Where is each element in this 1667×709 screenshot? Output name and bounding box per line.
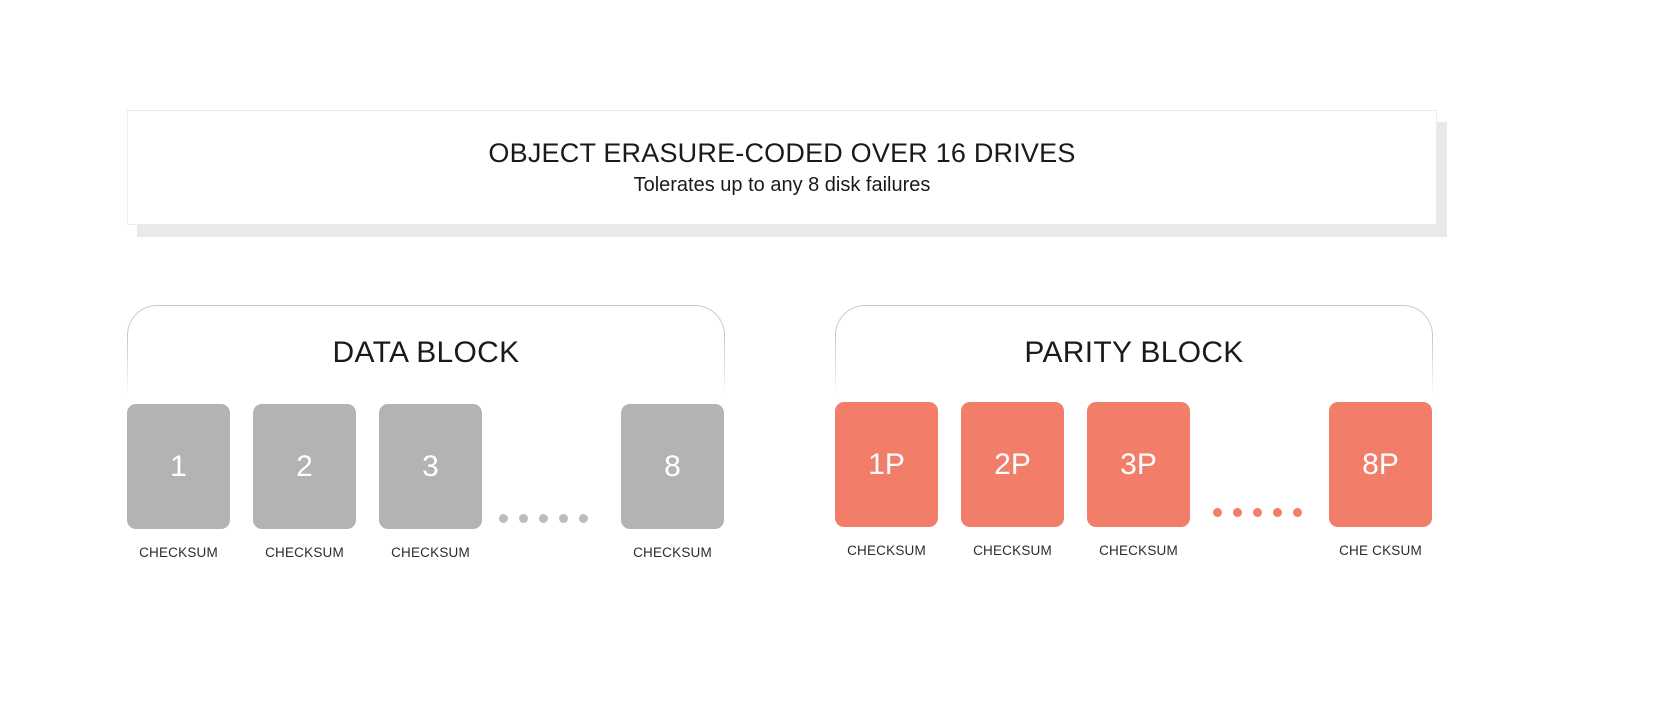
- parity-block-tile[interactable]: 8P: [1329, 402, 1432, 527]
- parity-block-tile[interactable]: 1P: [835, 402, 938, 527]
- checksum-label: CHECKSUM: [961, 543, 1064, 558]
- ellipsis-dot: [579, 514, 588, 523]
- banner-subtitle: Tolerates up to any 8 disk failures: [634, 172, 931, 198]
- data-block-title: DATA BLOCK: [127, 336, 725, 370]
- checksum-label: CHECKSUM: [835, 543, 938, 558]
- banner-title: OBJECT ERASURE-CODED OVER 16 DRIVES: [488, 137, 1075, 170]
- data-block-cell: 3CHECKSUM: [379, 404, 482, 560]
- checksum-label: CHE CKSUM: [1329, 543, 1432, 558]
- data-block-cell: 1CHECKSUM: [127, 404, 230, 560]
- parity-block-ellipsis-dots: [1213, 508, 1302, 517]
- data-block-tile[interactable]: 1: [127, 404, 230, 529]
- parity-block-tile[interactable]: 3P: [1087, 402, 1190, 527]
- parity-block-tile[interactable]: 2P: [961, 402, 1064, 527]
- checksum-label: CHECKSUM: [253, 545, 356, 560]
- ellipsis-dot: [1233, 508, 1242, 517]
- ellipsis-dot: [1253, 508, 1262, 517]
- ellipsis-dot: [539, 514, 548, 523]
- ellipsis-dot: [499, 514, 508, 523]
- ellipsis-dot: [1273, 508, 1282, 517]
- checksum-label: CHECKSUM: [127, 545, 230, 560]
- parity-block-title: PARITY BLOCK: [835, 336, 1433, 370]
- data-block-ellipsis-dots: [499, 514, 588, 523]
- checksum-label: CHECKSUM: [379, 545, 482, 560]
- data-block-tile[interactable]: 3: [379, 404, 482, 529]
- data-block-tile[interactable]: 2: [253, 404, 356, 529]
- checksum-label: CHECKSUM: [1087, 543, 1190, 558]
- parity-block-cell: 1PCHECKSUM: [835, 402, 938, 558]
- ellipsis-dot: [1293, 508, 1302, 517]
- ellipsis-dot: [559, 514, 568, 523]
- parity-block-cell: 8PCHE CKSUM: [1329, 402, 1432, 558]
- data-block-tile[interactable]: 8: [621, 404, 724, 529]
- parity-block-cell: 3PCHECKSUM: [1087, 402, 1190, 558]
- parity-block-cell: 2PCHECKSUM: [961, 402, 1064, 558]
- ellipsis-dot: [1213, 508, 1222, 517]
- data-block-cell: 8CHECKSUM: [621, 404, 724, 560]
- ellipsis-dot: [519, 514, 528, 523]
- header-banner: OBJECT ERASURE-CODED OVER 16 DRIVES Tole…: [127, 110, 1437, 225]
- parity-block-row: 1PCHECKSUM2PCHECKSUM3PCHECKSUM8PCHE CKSU…: [835, 402, 1433, 582]
- data-block-cell: 2CHECKSUM: [253, 404, 356, 560]
- checksum-label: CHECKSUM: [621, 545, 724, 560]
- data-block-row: 1CHECKSUM2CHECKSUM3CHECKSUM8CHECKSUM: [127, 404, 725, 584]
- diagram-canvas: OBJECT ERASURE-CODED OVER 16 DRIVES Tole…: [0, 0, 1667, 709]
